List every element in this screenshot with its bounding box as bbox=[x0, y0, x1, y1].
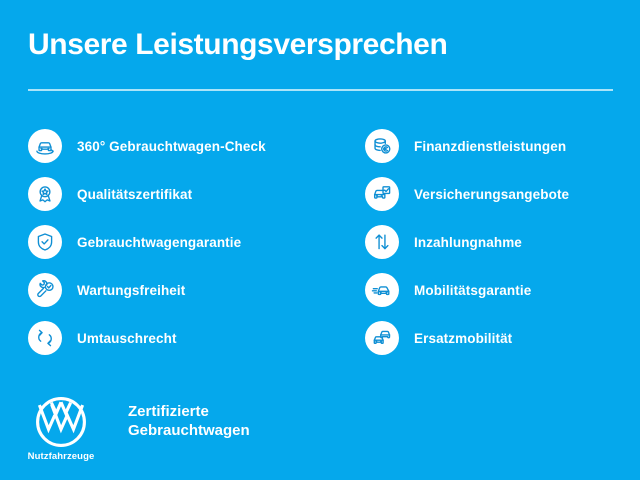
promise-item-inzahlungnahme[interactable]: Inzahlungnahme bbox=[365, 218, 640, 266]
two-cars-icon bbox=[365, 321, 399, 355]
promise-label: Wartungsfreiheit bbox=[77, 283, 185, 298]
page-title: Unsere Leistungsversprechen bbox=[28, 28, 447, 61]
header-divider bbox=[28, 89, 613, 91]
promise-item-umtauschrecht[interactable]: Umtauschrecht bbox=[28, 314, 330, 362]
brand-claim: Zertifizierte Gebrauchtwagen bbox=[128, 402, 250, 440]
award-seal-icon bbox=[28, 177, 62, 211]
promise-label: Ersatzmobilität bbox=[414, 331, 512, 346]
promise-item-finanzdienstleistungen[interactable]: Finanzdienstleistungen bbox=[365, 122, 640, 170]
promise-item-versicherungsangebote[interactable]: Versicherungsangebote bbox=[365, 170, 640, 218]
promise-label: Finanzdienstleistungen bbox=[414, 139, 566, 154]
promise-item-ersatzmobilitaet[interactable]: Ersatzmobilität bbox=[365, 314, 640, 362]
promises-grid: 360° Gebrauchtwagen-Check Qualitätszerti… bbox=[0, 122, 640, 362]
promise-item-gebrauchtwagen-check[interactable]: 360° Gebrauchtwagen-Check bbox=[28, 122, 330, 170]
promise-label: 360° Gebrauchtwagen-Check bbox=[77, 139, 266, 154]
car-360-check-icon bbox=[28, 129, 62, 163]
promise-item-mobilitaetsgarantie[interactable]: Mobilitätsgarantie bbox=[365, 266, 640, 314]
promise-item-qualitaetszertifikat[interactable]: Qualitätszertifikat bbox=[28, 170, 330, 218]
slide-root: Unsere Leistungsversprechen 360° Gebrauc… bbox=[0, 0, 640, 480]
promises-column-left: 360° Gebrauchtwagen-Check Qualitätszerti… bbox=[0, 122, 330, 362]
promise-label: Gebrauchtwagengarantie bbox=[77, 235, 241, 250]
car-document-check-icon bbox=[365, 177, 399, 211]
coins-euro-icon bbox=[365, 129, 399, 163]
wrench-check-icon bbox=[28, 273, 62, 307]
promise-label: Qualitätszertifikat bbox=[77, 187, 192, 202]
up-down-arrows-icon bbox=[365, 225, 399, 259]
promise-item-wartungsfreiheit[interactable]: Wartungsfreiheit bbox=[28, 266, 330, 314]
promise-label: Mobilitätsgarantie bbox=[414, 283, 531, 298]
car-speed-check-icon bbox=[365, 273, 399, 307]
promise-label: Umtauschrecht bbox=[77, 331, 177, 346]
exchange-arrows-icon bbox=[28, 321, 62, 355]
promises-column-right: Finanzdienstleistungen Versicherungsange… bbox=[330, 122, 640, 362]
brand-claim-line-2: Gebrauchtwagen bbox=[128, 421, 250, 440]
vw-roundel-icon bbox=[35, 396, 87, 448]
brand-claim-line-1: Zertifizierte bbox=[128, 402, 250, 421]
promise-item-gebrauchtwagengarantie[interactable]: Gebrauchtwagengarantie bbox=[28, 218, 330, 266]
shield-check-icon bbox=[28, 225, 62, 259]
promise-label: Versicherungsangebote bbox=[414, 187, 569, 202]
brand-logo-subtitle: Nutzfahrzeuge bbox=[28, 451, 95, 462]
brand-block: Nutzfahrzeuge Zertifizierte Gebrauchtwag… bbox=[28, 396, 250, 462]
promise-label: Inzahlungnahme bbox=[414, 235, 522, 250]
vw-logo: Nutzfahrzeuge bbox=[28, 396, 94, 462]
